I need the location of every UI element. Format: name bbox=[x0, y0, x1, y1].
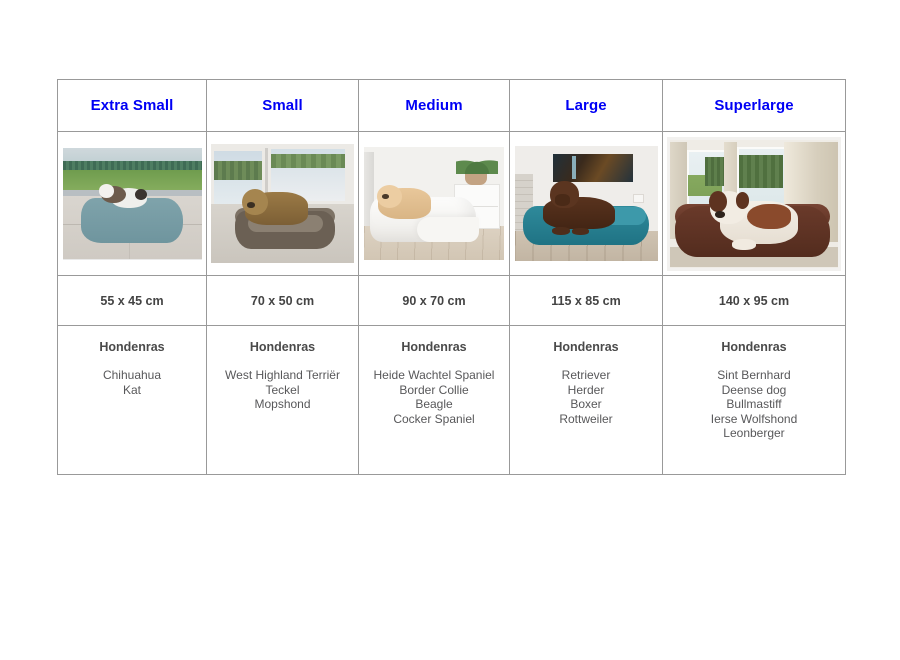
breed-list-medium: Heide Wachtel SpanielBorder CollieBeagle… bbox=[359, 368, 509, 426]
photo-dog-paw bbox=[732, 239, 756, 249]
breed-item: Bullmastiff bbox=[663, 397, 845, 412]
dimension-cell-superlarge: 140 x 95 cm bbox=[663, 276, 846, 326]
header-cell-superlarge: Superlarge bbox=[663, 80, 846, 132]
size-name-large: Large bbox=[510, 97, 662, 115]
breed-item: Mopshond bbox=[207, 397, 358, 412]
dimension-medium: 90 x 70 cm bbox=[359, 294, 509, 308]
breed-item: Boxer bbox=[510, 397, 662, 412]
breed-item: Sint Bernhard bbox=[663, 368, 845, 383]
table-header-row: Extra Small Small Medium Large Superlarg… bbox=[58, 80, 846, 132]
breed-item: Rottweiler bbox=[510, 412, 662, 427]
breed-title-large: Hondenras bbox=[510, 340, 662, 354]
photo-dog-head bbox=[99, 184, 114, 197]
breed-cell-large: Hondenras RetrieverHerderBoxerRottweiler bbox=[510, 326, 663, 475]
breed-item: Chihuahua bbox=[58, 368, 206, 383]
photo-wrap-large bbox=[510, 132, 662, 275]
photo-dog-paw-left bbox=[552, 227, 571, 235]
photo-dog-head bbox=[377, 185, 402, 208]
photo-wall-socket bbox=[633, 194, 644, 203]
breed-item: Border Collie bbox=[359, 383, 509, 398]
image-cell-large bbox=[510, 132, 663, 276]
breed-item: Herder bbox=[510, 383, 662, 398]
photo-hedge-left bbox=[705, 157, 723, 185]
photo-wrap-extra-small bbox=[58, 132, 206, 275]
table-breed-row: Hondenras ChihuahuaKat Hondenras West Hi… bbox=[58, 326, 846, 475]
product-photo-extra-small bbox=[63, 148, 202, 260]
header-cell-small: Small bbox=[207, 80, 359, 132]
photo-wall-art-highlight bbox=[572, 156, 576, 179]
breed-item: West Highland Terriër bbox=[207, 368, 358, 383]
breed-item: Heide Wachtel Spaniel bbox=[359, 368, 509, 383]
photo-dog-nose bbox=[715, 211, 725, 217]
product-photo-large bbox=[515, 146, 658, 261]
photo-trees-left bbox=[214, 161, 263, 180]
page-canvas: Extra Small Small Medium Large Superlarg… bbox=[0, 0, 900, 660]
size-name-medium: Medium bbox=[359, 97, 509, 115]
breed-item: Deense dog bbox=[663, 383, 845, 398]
breed-item: Leonberger bbox=[663, 426, 845, 441]
product-photo-small bbox=[211, 144, 354, 263]
table-dimension-row: 55 x 45 cm 70 x 50 cm 90 x 70 cm 115 x 8… bbox=[58, 276, 846, 326]
photo-dog-saddle-patch bbox=[747, 204, 791, 230]
dimension-cell-small: 70 x 50 cm bbox=[207, 276, 359, 326]
dimension-cell-large: 115 x 85 cm bbox=[510, 276, 663, 326]
breed-list-extra-small: ChihuahuaKat bbox=[58, 368, 206, 397]
breed-item: Retriever bbox=[510, 368, 662, 383]
dog-bed-size-table: Extra Small Small Medium Large Superlarg… bbox=[57, 79, 846, 475]
image-cell-superlarge bbox=[663, 132, 846, 276]
photo-wrap-medium bbox=[359, 132, 509, 275]
breed-cell-superlarge: Hondenras Sint BernhardDeense dogBullmas… bbox=[663, 326, 846, 475]
breed-title-superlarge: Hondenras bbox=[663, 340, 845, 354]
dimension-cell-medium: 90 x 70 cm bbox=[359, 276, 510, 326]
photo-wrap-small bbox=[207, 132, 358, 275]
photo-wrap-superlarge bbox=[663, 132, 845, 275]
photo-dog-paw-right bbox=[572, 228, 589, 235]
breed-list-large: RetrieverHerderBoxerRottweiler bbox=[510, 368, 662, 426]
breed-cell-medium: Hondenras Heide Wachtel SpanielBorder Co… bbox=[359, 326, 510, 475]
breed-title-extra-small: Hondenras bbox=[58, 340, 206, 354]
size-name-superlarge: Superlarge bbox=[663, 97, 845, 115]
photo-dog-snout bbox=[555, 194, 571, 206]
breed-title-small: Hondenras bbox=[207, 340, 358, 354]
breed-item: Cocker Spaniel bbox=[359, 412, 509, 427]
size-name-extra-small: Extra Small bbox=[58, 97, 206, 115]
dimension-cell-extra-small: 55 x 45 cm bbox=[58, 276, 207, 326]
table-image-row bbox=[58, 132, 846, 276]
header-cell-medium: Medium bbox=[359, 80, 510, 132]
breed-list-small: West Highland TerriërTeckelMopshond bbox=[207, 368, 358, 412]
photo-bed-fold bbox=[417, 217, 479, 242]
breed-item: Teckel bbox=[207, 383, 358, 398]
image-cell-medium bbox=[359, 132, 510, 276]
photo-dog-mask bbox=[736, 192, 749, 209]
breed-cell-small: Hondenras West Highland TerriërTeckelMop… bbox=[207, 326, 359, 475]
dimension-small: 70 x 50 cm bbox=[207, 294, 358, 308]
dimension-superlarge: 140 x 95 cm bbox=[663, 294, 845, 308]
breed-cell-extra-small: Hondenras ChihuahuaKat bbox=[58, 326, 207, 475]
breed-list-superlarge: Sint BernhardDeense dogBullmastiffIerse … bbox=[663, 368, 845, 441]
breed-item: Ierse Wolfshond bbox=[663, 412, 845, 427]
dimension-large: 115 x 85 cm bbox=[510, 294, 662, 308]
breed-item: Beagle bbox=[359, 397, 509, 412]
breed-title-medium: Hondenras bbox=[359, 340, 509, 354]
photo-wall-art bbox=[553, 154, 633, 182]
product-photo-medium bbox=[364, 147, 504, 260]
product-photo-superlarge bbox=[667, 137, 841, 271]
header-cell-extra-small: Extra Small bbox=[58, 80, 207, 132]
photo-dog-ear bbox=[709, 191, 727, 213]
photo-trees-right bbox=[271, 154, 345, 168]
size-name-small: Small bbox=[207, 97, 358, 115]
photo-hedge-right bbox=[739, 155, 783, 188]
image-cell-extra-small bbox=[58, 132, 207, 276]
photo-plant bbox=[456, 153, 498, 174]
breed-item: Kat bbox=[58, 383, 206, 398]
dimension-extra-small: 55 x 45 cm bbox=[58, 294, 206, 308]
header-cell-large: Large bbox=[510, 80, 663, 132]
image-cell-small bbox=[207, 132, 359, 276]
